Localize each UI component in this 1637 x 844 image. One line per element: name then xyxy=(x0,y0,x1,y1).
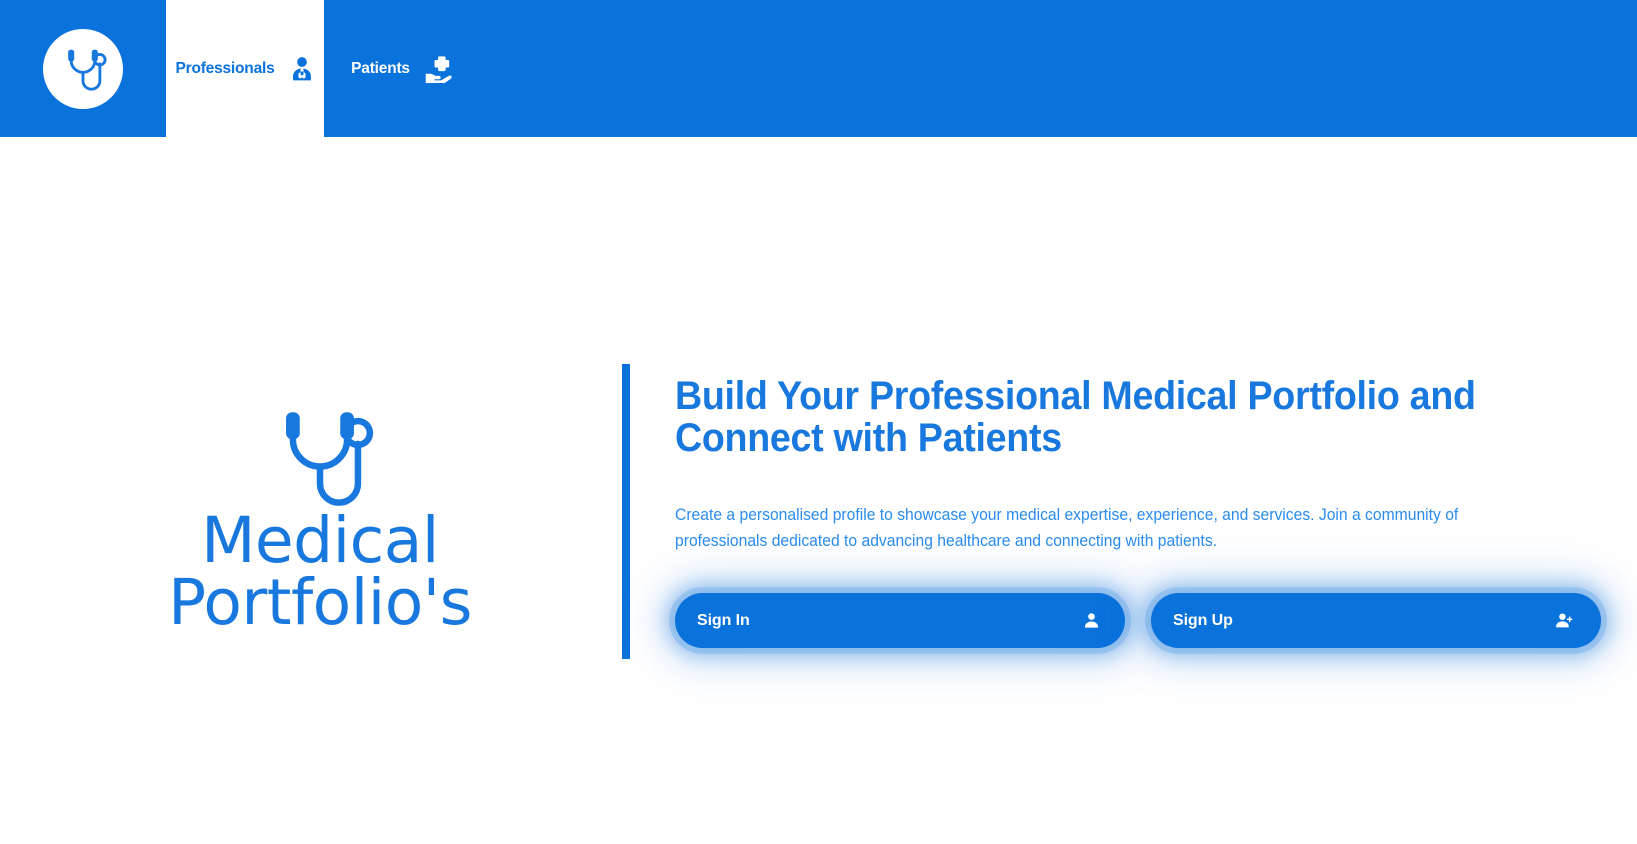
sign-up-button-label: Sign Up xyxy=(1173,612,1233,630)
brand-logo-badge xyxy=(43,29,123,109)
sign-in-button[interactable]: Sign In xyxy=(675,593,1125,648)
user-icon xyxy=(1082,611,1101,630)
doctor-icon xyxy=(289,56,315,82)
hero-logo-panel: Medical Portfolio's xyxy=(120,364,520,659)
nav-tab-professionals[interactable]: Professionals xyxy=(166,0,324,137)
nav-tab-professionals-label: Professionals xyxy=(175,60,274,78)
top-navigation-bar: Professionals Patients xyxy=(0,0,1637,137)
user-plus-icon xyxy=(1554,611,1577,630)
brand-logo[interactable] xyxy=(0,0,166,137)
hand-holding-cross-icon xyxy=(424,55,452,83)
hero-section: Medical Portfolio's Build Your Professio… xyxy=(0,137,1637,844)
sign-in-button-label: Sign In xyxy=(697,612,750,630)
stethoscope-icon xyxy=(56,42,110,96)
hero-vertical-divider xyxy=(622,364,630,659)
hero-content: Build Your Professional Medical Portfoli… xyxy=(630,364,1637,659)
hero-logo-wordmark-line2: Portfolio's xyxy=(168,572,472,634)
hero-button-row: Sign In Sign Up xyxy=(675,593,1601,648)
stethoscope-icon xyxy=(261,396,379,508)
hero-headline: Build Your Professional Medical Portfoli… xyxy=(675,375,1502,460)
nav-tab-patients[interactable]: Patients xyxy=(324,0,479,137)
hero-logo-wordmark-line1: Medical xyxy=(201,510,439,572)
nav-tab-patients-label: Patients xyxy=(351,60,410,78)
hero-subcopy: Create a personalised profile to showcas… xyxy=(675,502,1464,555)
nav-spacer xyxy=(479,0,1637,137)
sign-up-button[interactable]: Sign Up xyxy=(1151,593,1601,648)
hero-divider-wrap xyxy=(520,364,630,659)
